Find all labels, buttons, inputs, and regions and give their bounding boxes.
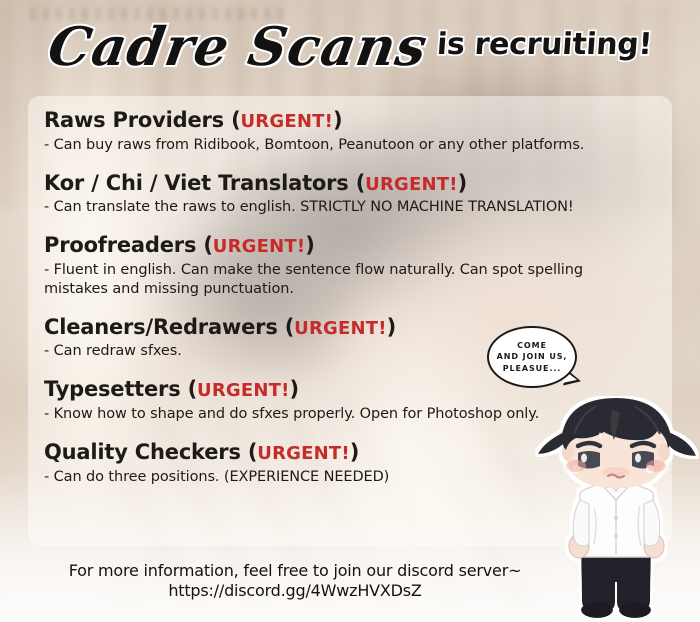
role-title: Proofreaders bbox=[44, 233, 196, 257]
paren-close: ) bbox=[305, 233, 314, 257]
role-heading: Raws Providers (URGENT!) bbox=[44, 108, 644, 133]
paren-close: ) bbox=[387, 315, 396, 339]
chibi-sleeve-right bbox=[644, 500, 660, 546]
urgent-badge: URGENT! bbox=[294, 318, 387, 339]
chibi-hair-tuft-left bbox=[538, 432, 566, 454]
chibi-body-group bbox=[538, 398, 696, 618]
title-brand: Cadre Scans bbox=[44, 16, 432, 78]
recruitment-poster: Cadre Scansis recruiting! Raws Providers… bbox=[0, 0, 700, 622]
chibi-character bbox=[534, 396, 700, 622]
role-title: Quality Checkers bbox=[44, 440, 241, 464]
urgent-badge: URGENT! bbox=[213, 236, 306, 257]
role-description: - Fluent in english. Can make the senten… bbox=[44, 261, 644, 299]
chibi-sleeve-left bbox=[573, 500, 589, 546]
paren-close: ) bbox=[350, 440, 359, 464]
chibi-hair-tuft-right bbox=[667, 432, 696, 456]
chibi-button bbox=[614, 516, 618, 520]
footer-line: For more information, feel free to join … bbox=[69, 561, 522, 580]
speech-bubble: COME AND JOIN US, PLEASUE... bbox=[487, 326, 577, 388]
chibi-button bbox=[614, 534, 618, 538]
role-description: - Can buy raws from Ridibook, Bomtoon, P… bbox=[44, 136, 644, 155]
paren-open: ( bbox=[356, 171, 365, 195]
chibi-shoe-right bbox=[619, 602, 651, 618]
role-title: Raws Providers bbox=[44, 108, 224, 132]
chibi-blush-left bbox=[566, 460, 586, 472]
role-description: - Can translate the raws to english. STR… bbox=[44, 198, 644, 217]
page-title: Cadre Scansis recruiting! bbox=[0, 16, 700, 78]
footer: For more information, feel free to join … bbox=[0, 561, 590, 602]
role-title: Cleaners/Redrawers bbox=[44, 315, 278, 339]
paren-open: ( bbox=[248, 440, 257, 464]
role-title: Typesetters bbox=[44, 377, 181, 401]
chibi-eye-highlight-right bbox=[635, 454, 641, 463]
role-title: Kor / Chi / Viet Translators bbox=[44, 171, 349, 195]
role-heading: Kor / Chi / Viet Translators (URGENT!) bbox=[44, 171, 644, 196]
chibi-blush-right bbox=[646, 460, 666, 472]
urgent-badge: URGENT! bbox=[365, 174, 458, 195]
urgent-badge: URGENT! bbox=[240, 111, 333, 132]
paren-close: ) bbox=[333, 108, 342, 132]
urgent-badge: URGENT! bbox=[197, 380, 290, 401]
paren-close: ) bbox=[290, 377, 299, 401]
role-section: Proofreaders (URGENT!) - Fluent in engli… bbox=[44, 233, 644, 298]
role-heading: Proofreaders (URGENT!) bbox=[44, 233, 644, 258]
role-section: Raws Providers (URGENT!) - Can buy raws … bbox=[44, 108, 644, 155]
role-section: Kor / Chi / Viet Translators (URGENT!) -… bbox=[44, 171, 644, 218]
title-rest: is recruiting! bbox=[435, 27, 652, 62]
paren-open: ( bbox=[188, 377, 197, 401]
paren-open: ( bbox=[285, 315, 294, 339]
chibi-eye-highlight-left bbox=[581, 454, 587, 463]
urgent-badge: URGENT! bbox=[257, 443, 350, 464]
speech-bubble-text: COME AND JOIN US, PLEASUE... bbox=[497, 340, 568, 375]
paren-open: ( bbox=[203, 233, 212, 257]
chibi-shoe-left bbox=[581, 602, 613, 618]
paren-close: ) bbox=[458, 171, 467, 195]
discord-link[interactable]: https://discord.gg/4WwzHVXDsZ bbox=[0, 581, 590, 601]
